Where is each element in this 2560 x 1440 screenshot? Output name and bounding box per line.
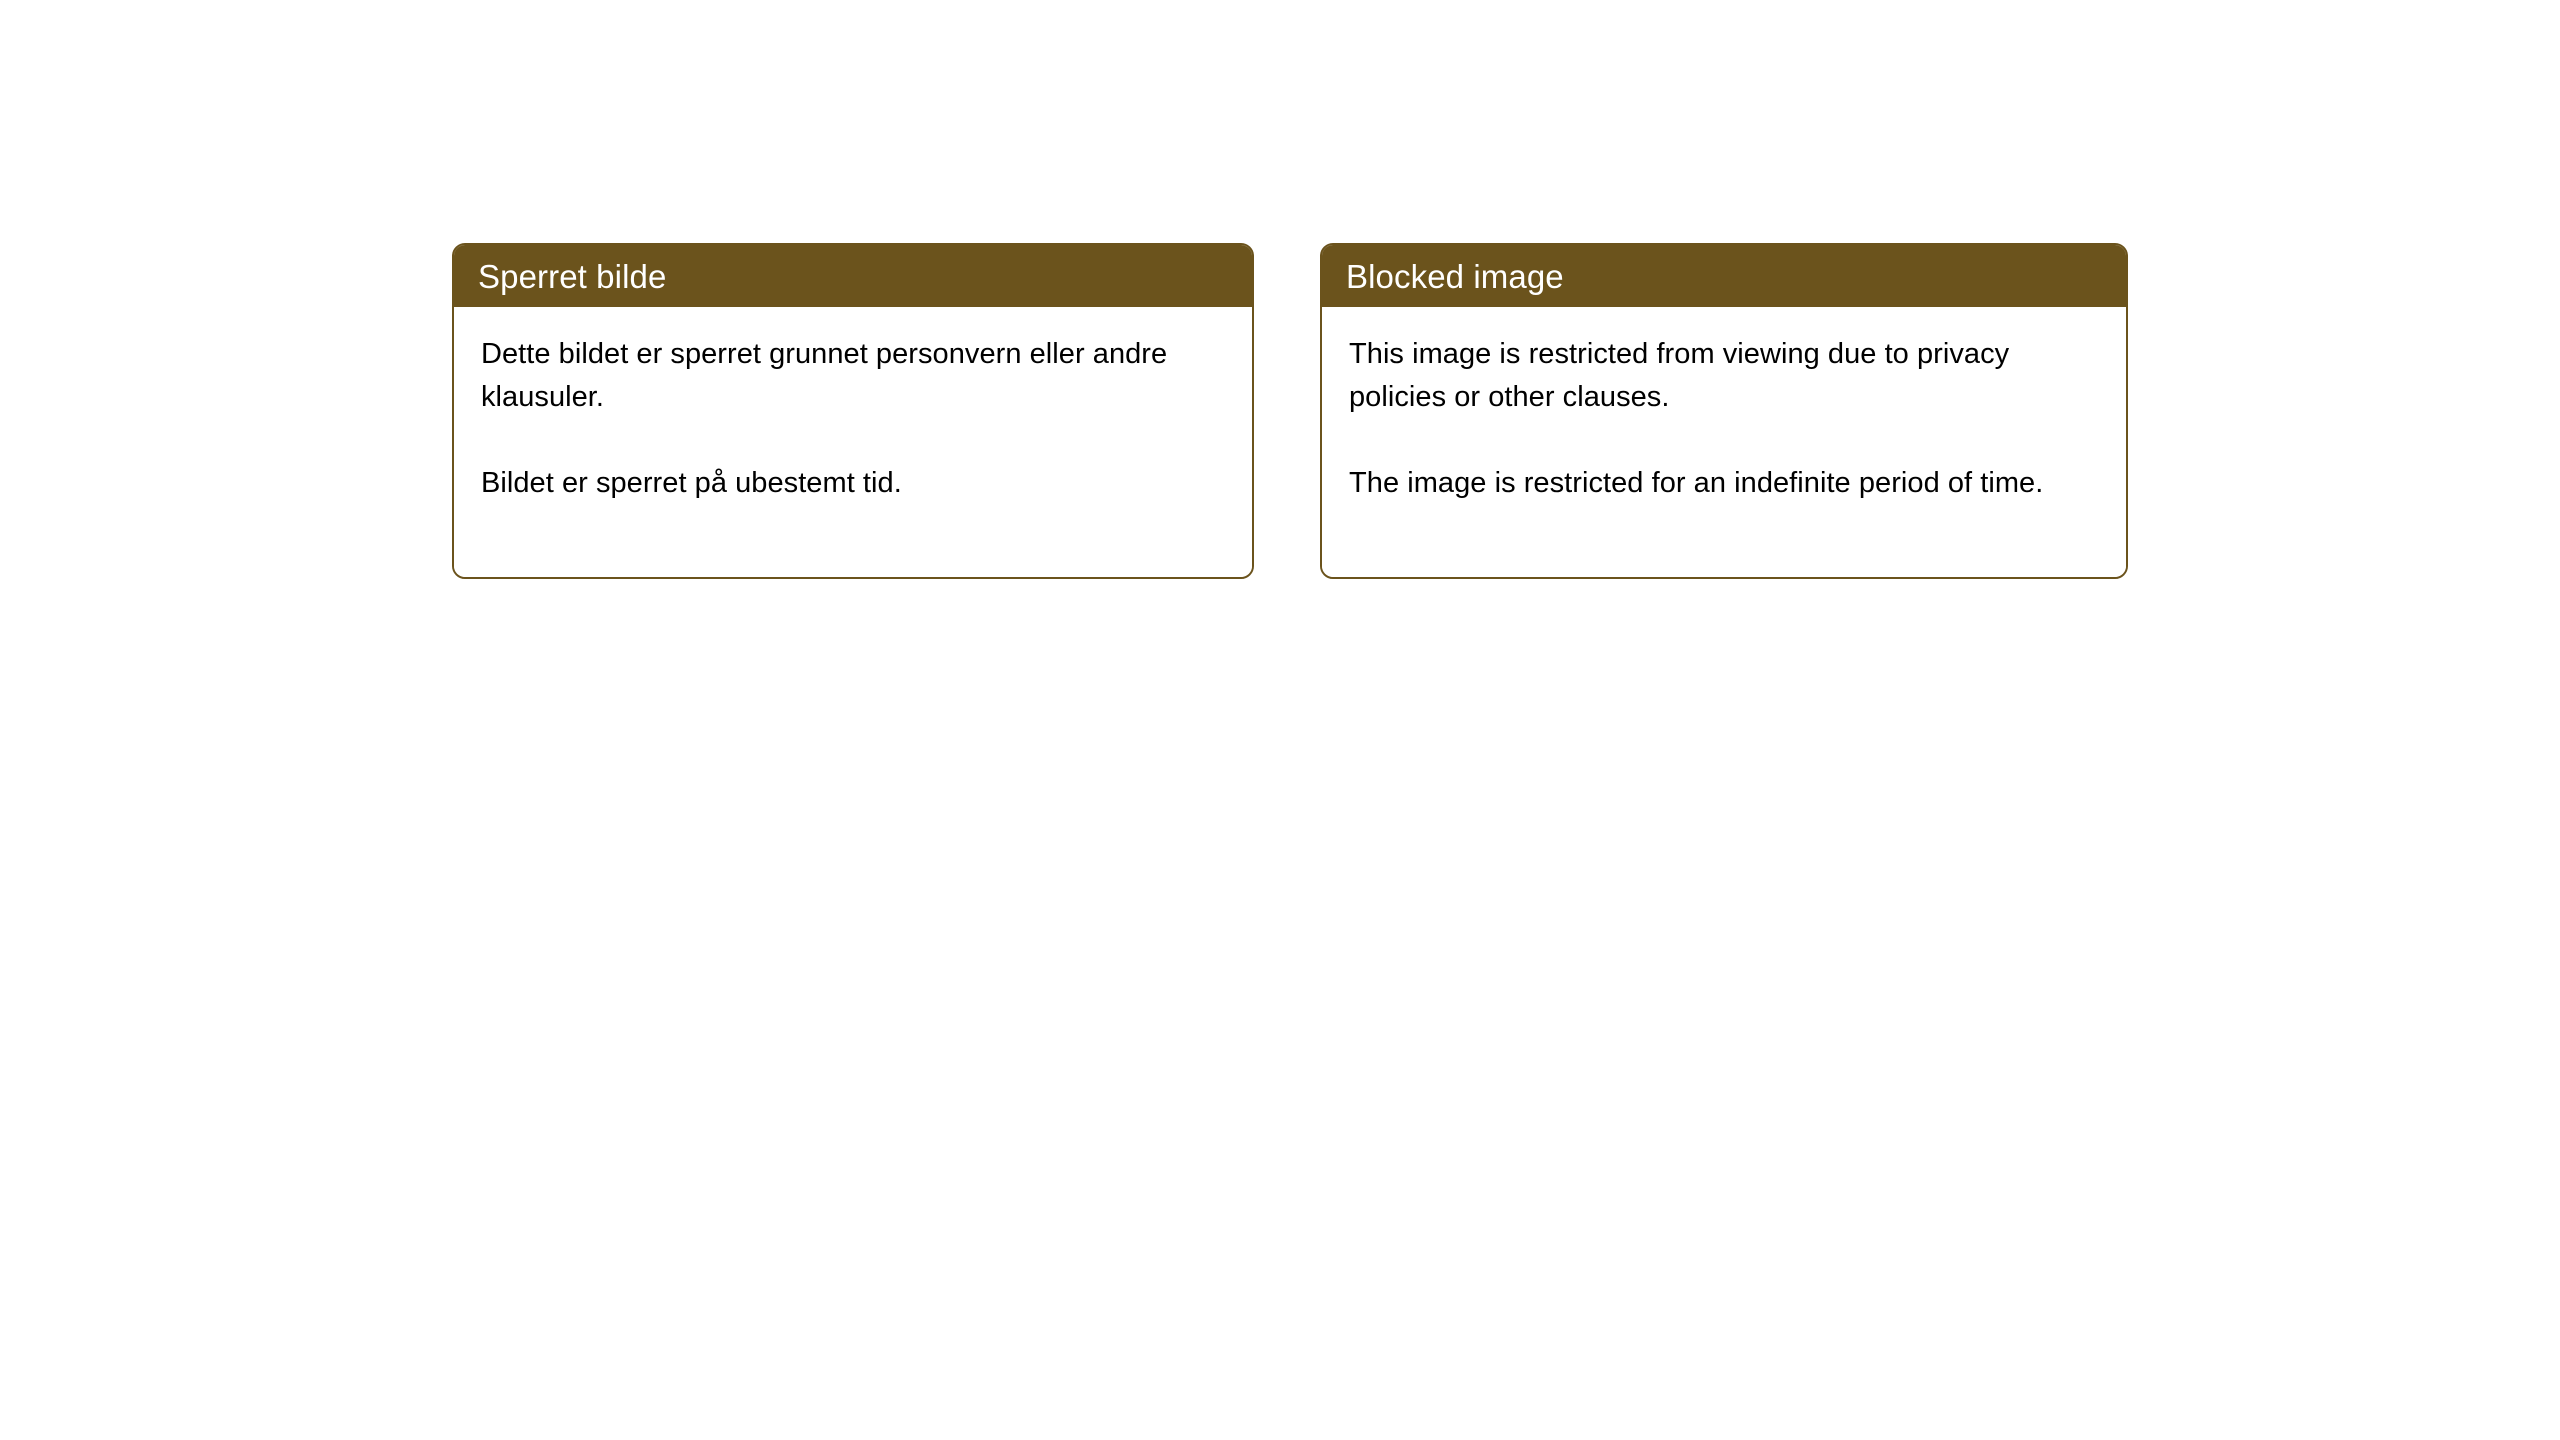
notice-paragraph: Dette bildet er sperret grunnet personve… [481, 333, 1230, 419]
notice-header-no: Sperret bilde [454, 245, 1252, 307]
notice-header-en: Blocked image [1322, 245, 2126, 307]
notice-title-no: Sperret bilde [478, 260, 666, 293]
blocked-image-notice-en: Blocked image This image is restricted f… [1320, 243, 2128, 579]
blocked-image-notice-no: Sperret bilde Dette bildet er sperret gr… [452, 243, 1254, 579]
notice-body-en: This image is restricted from viewing du… [1322, 307, 2126, 577]
notice-paragraph: Bildet er sperret på ubestemt tid. [481, 462, 1230, 505]
page-root: Sperret bilde Dette bildet er sperret gr… [0, 0, 2560, 1440]
notice-title-en: Blocked image [1346, 260, 1564, 293]
notice-panel-group: Sperret bilde Dette bildet er sperret gr… [452, 243, 2128, 579]
notice-paragraph: This image is restricted from viewing du… [1349, 333, 2104, 419]
notice-body-no: Dette bildet er sperret grunnet personve… [454, 307, 1252, 577]
notice-paragraph: The image is restricted for an indefinit… [1349, 462, 2104, 505]
